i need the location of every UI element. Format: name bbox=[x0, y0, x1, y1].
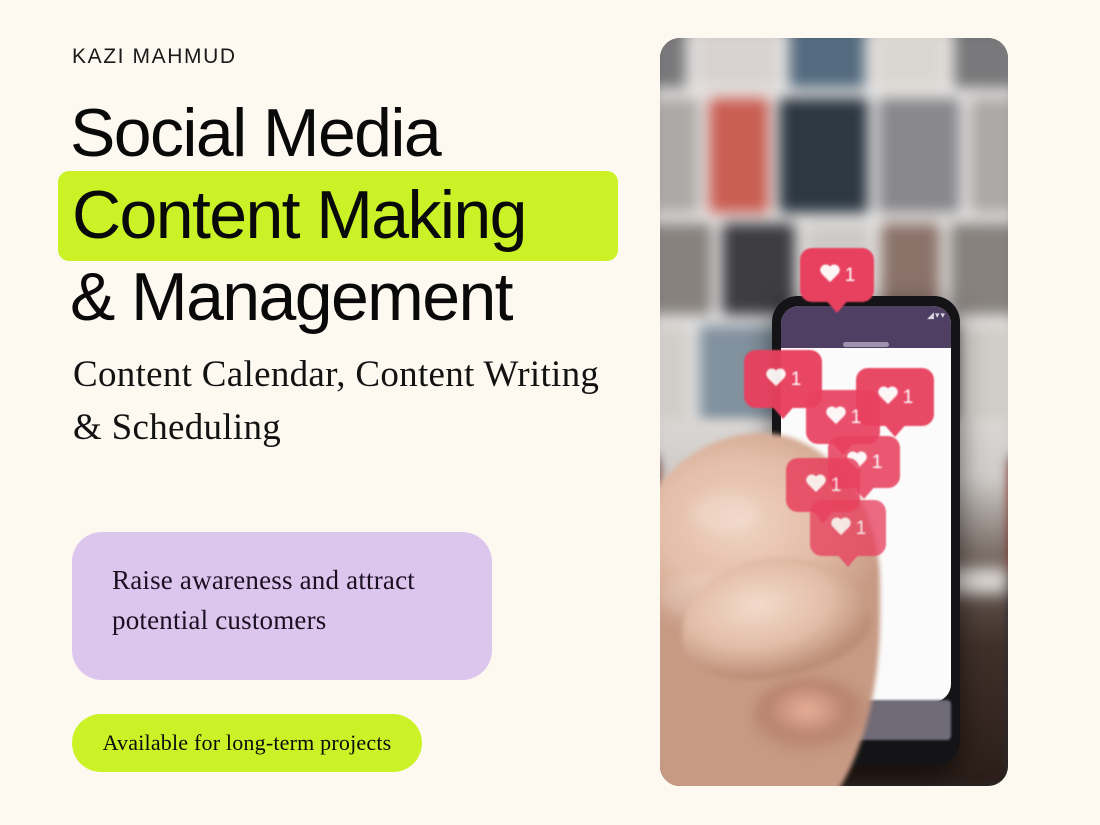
like-notification-badge: 1 bbox=[810, 500, 886, 556]
hero-photo-content: ◢▾▾ 1111111 bbox=[660, 38, 1008, 786]
like-count: 1 bbox=[903, 388, 914, 407]
phone-signal-icon: ◢▾▾ bbox=[927, 310, 946, 321]
subtitle: Content Calendar, Content Writing & Sche… bbox=[73, 348, 613, 454]
photo-wall-tile bbox=[789, 38, 865, 88]
headline-line-2: Content Making bbox=[70, 174, 526, 256]
headline-line-2-wrapper: Content Making bbox=[70, 174, 670, 256]
photo-wall-tile bbox=[660, 38, 686, 88]
photo-wall-tile bbox=[950, 223, 1008, 315]
photo-wall-tile bbox=[878, 98, 960, 213]
phone-speaker-notch bbox=[843, 342, 889, 347]
heart-icon bbox=[877, 387, 899, 407]
left-content-column: KAZI MAHMUD Social Media Content Making … bbox=[72, 0, 652, 825]
heart-icon bbox=[805, 475, 827, 495]
photo-wall-tile bbox=[709, 98, 769, 213]
like-count: 1 bbox=[872, 453, 883, 472]
photo-wall-tile bbox=[954, 38, 1008, 88]
photo-wall-tile bbox=[970, 98, 1008, 213]
value-proposition-card: Raise awareness and attract potential cu… bbox=[72, 532, 492, 680]
photo-wall-tile bbox=[660, 98, 699, 213]
like-count: 1 bbox=[791, 370, 802, 389]
like-count: 1 bbox=[856, 519, 867, 538]
like-count: 1 bbox=[851, 408, 862, 427]
like-notification-badge: 1 bbox=[800, 248, 874, 302]
heart-icon bbox=[819, 265, 841, 285]
like-count: 1 bbox=[845, 266, 856, 285]
finger-tip bbox=[752, 678, 872, 756]
author-name: KAZI MAHMUD bbox=[72, 45, 237, 69]
photo-wall-tile bbox=[875, 38, 944, 88]
availability-badge-label: Available for long-term projects bbox=[103, 730, 392, 756]
heart-icon bbox=[830, 518, 852, 538]
photo-wall-tile bbox=[779, 98, 868, 213]
heart-icon bbox=[765, 369, 787, 389]
headline-line-1: Social Media bbox=[70, 92, 670, 174]
heart-icon bbox=[825, 407, 847, 427]
knuckle-shadow bbox=[690, 493, 760, 533]
photo-wall-tile bbox=[660, 223, 712, 315]
page-title: Social Media Content Making & Management bbox=[70, 92, 670, 338]
like-count: 1 bbox=[831, 476, 842, 495]
value-proposition-text: Raise awareness and attract potential cu… bbox=[112, 560, 458, 640]
photo-wall-tile bbox=[696, 38, 779, 88]
hero-photo: ◢▾▾ 1111111 bbox=[660, 38, 1008, 786]
availability-badge[interactable]: Available for long-term projects bbox=[72, 714, 422, 772]
poster-canvas: KAZI MAHMUD Social Media Content Making … bbox=[0, 0, 1100, 825]
headline-line-3: & Management bbox=[70, 256, 670, 338]
